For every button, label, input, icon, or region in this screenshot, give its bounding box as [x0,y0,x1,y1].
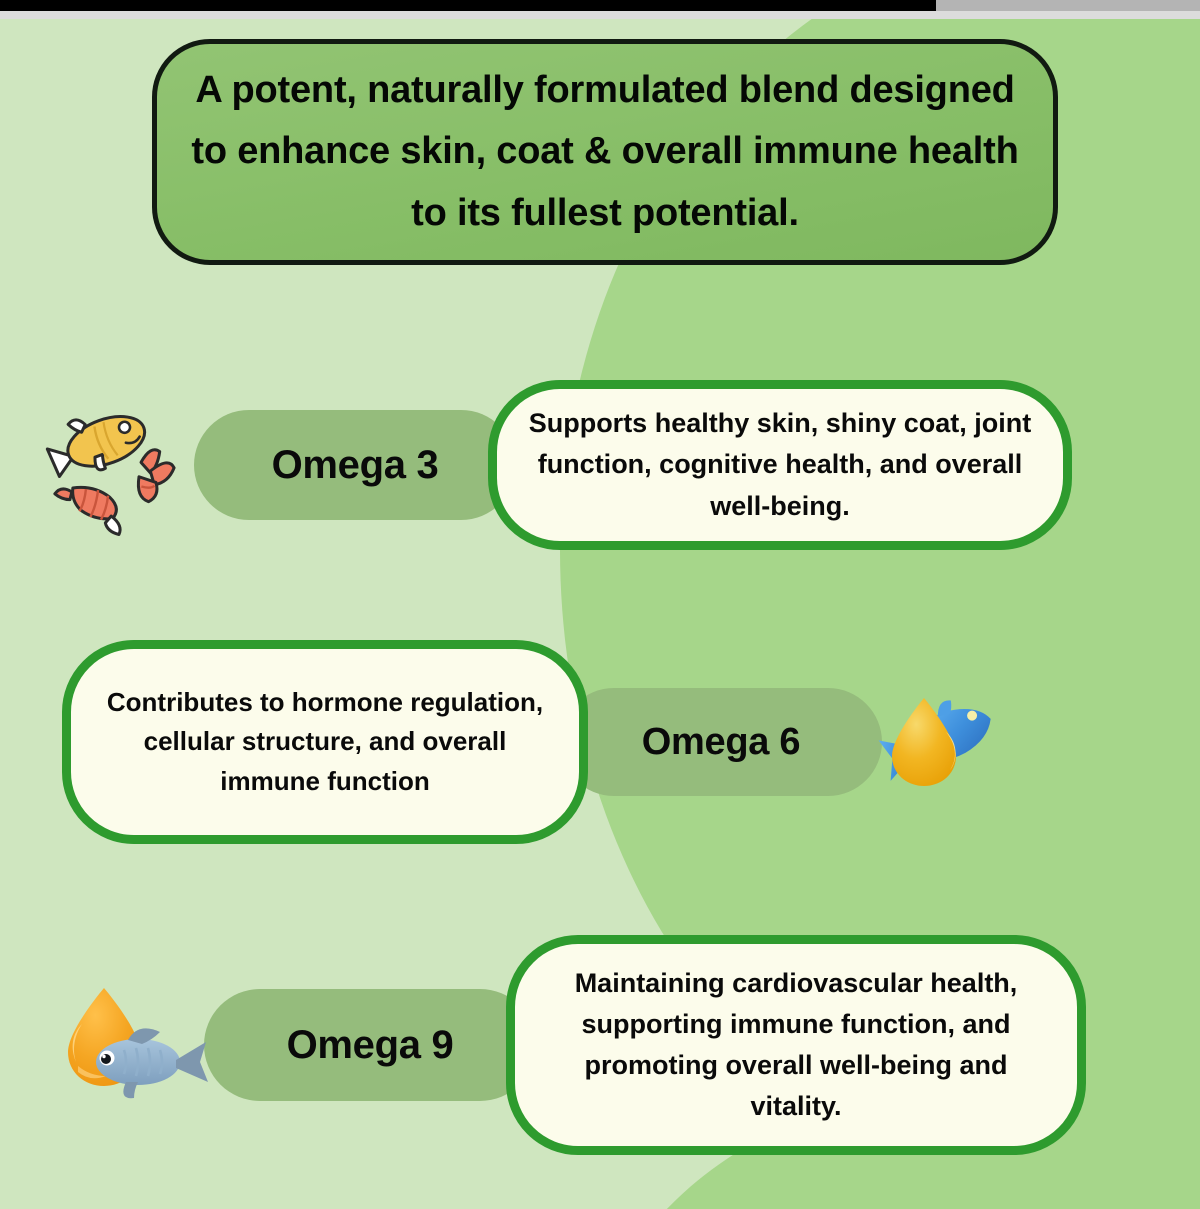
omega-benefits-infographic: A potent, naturally formulated blend des… [0,0,1200,1209]
omega-9-label: Omega 9 [287,1023,454,1068]
omega-9-description-card: Maintaining cardiovascular health, suppo… [506,935,1086,1155]
omega-3-row: Omega 3 Supports healthy skin, shiny coa… [40,380,1072,550]
omega-6-description-card: Contributes to hormone regulation, cellu… [62,640,588,844]
header-banner: A potent, naturally formulated blend des… [152,39,1058,265]
omega-9-row: Omega 9 Maintaining cardiovascular healt… [56,935,1086,1155]
header-banner-text: A potent, naturally formulated blend des… [183,60,1027,245]
blue-fish-oil-drop-icon [872,682,1002,802]
omega-3-label: Omega 3 [272,443,439,488]
oil-drop-slate-fish-icon [56,980,196,1110]
omega-3-description-card: Supports healthy skin, shiny coat, joint… [488,380,1072,550]
omega-3-label-pill[interactable]: Omega 3 [194,410,516,520]
top-black-bar [0,0,936,11]
omega-3-description: Supports healthy skin, shiny coat, joint… [527,403,1033,526]
fish-shrimp-lobster-icon [40,395,180,535]
omega-6-label: Omega 6 [642,721,800,764]
omega-9-label-pill[interactable]: Omega 9 [204,989,536,1101]
top-gray-bar-right [936,0,1200,11]
omega-9-description: Maintaining cardiovascular health, suppo… [539,963,1053,1127]
omega-6-description: Contributes to hormone regulation, cellu… [93,683,557,802]
top-gray-bar [0,11,1200,19]
omega-6-row: Contributes to hormone regulation, cellu… [62,640,1002,844]
omega-6-label-pill[interactable]: Omega 6 [560,688,882,796]
